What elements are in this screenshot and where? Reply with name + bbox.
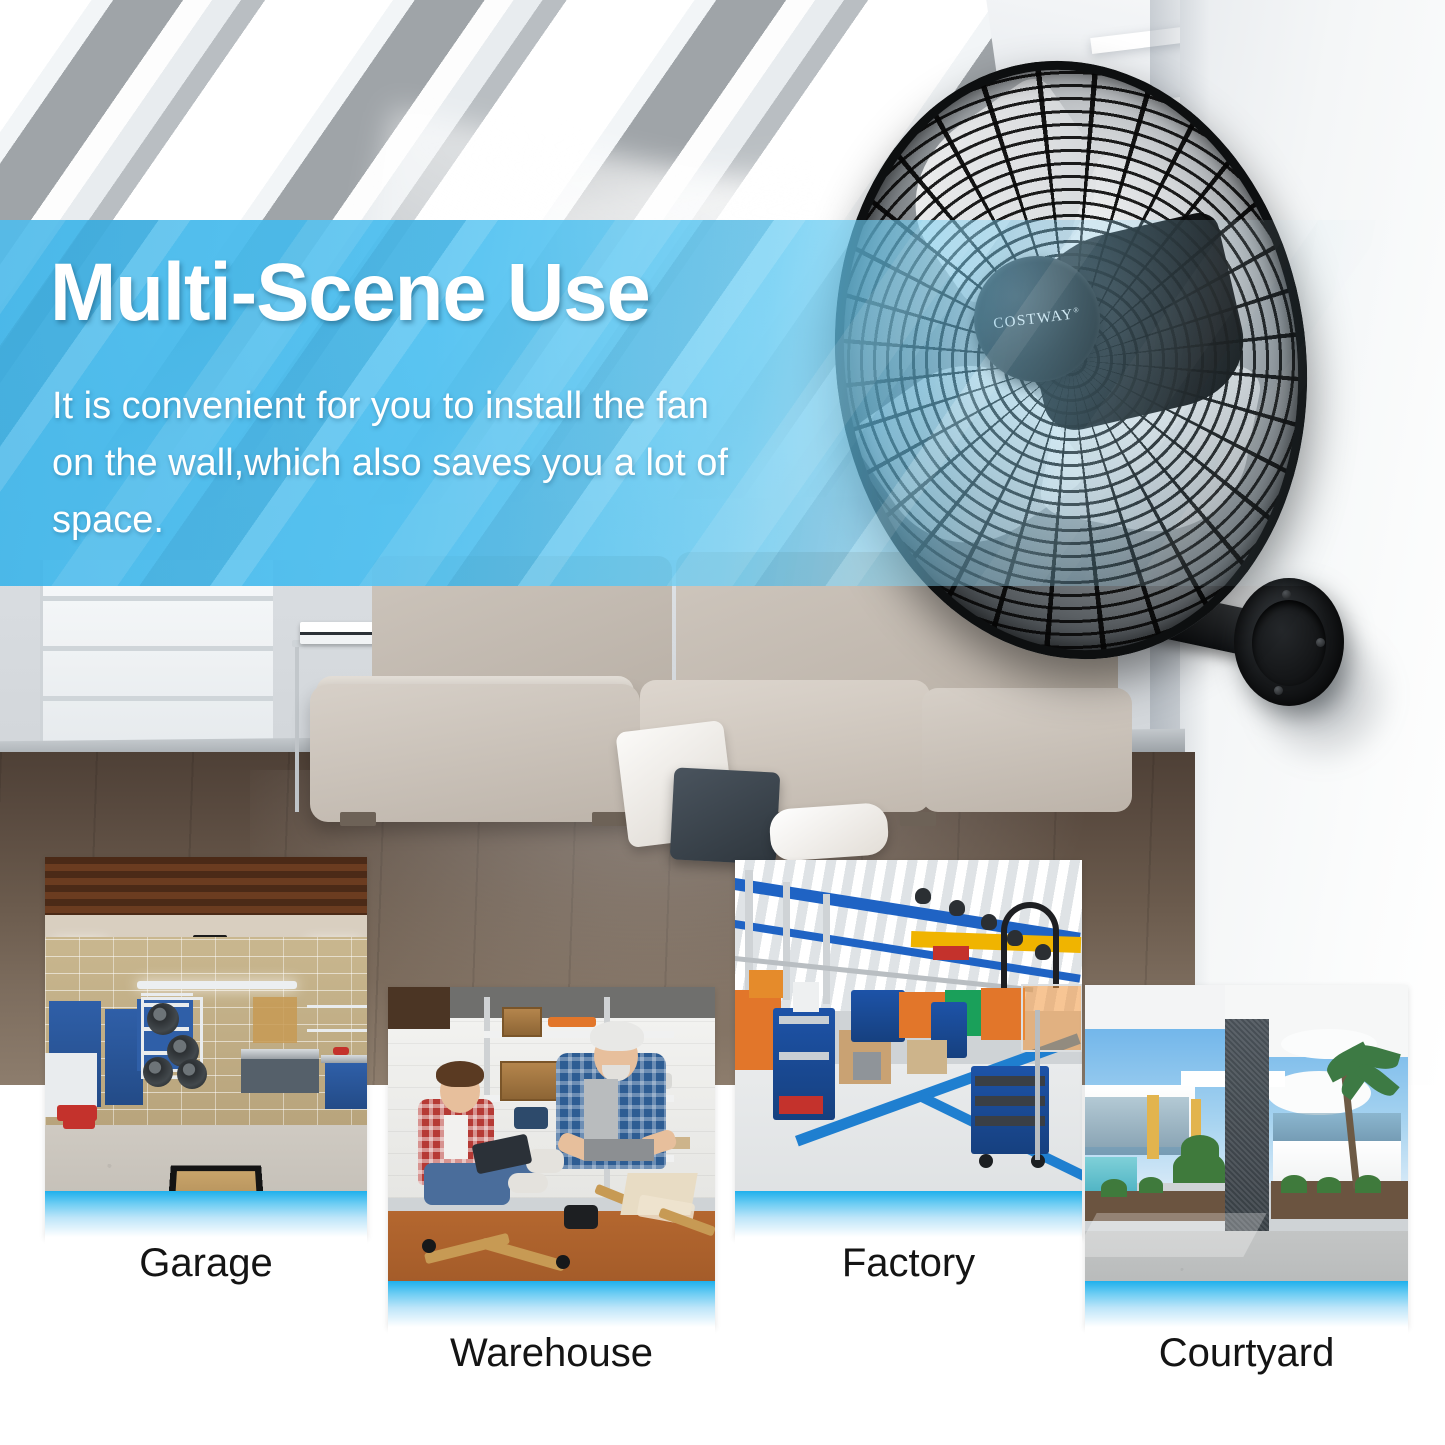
sofa-foot — [340, 812, 376, 826]
sofa-foot — [592, 812, 628, 826]
caption-gradient-strip — [735, 1191, 1082, 1237]
cushion-white — [768, 802, 889, 862]
chaise-lounge — [310, 684, 640, 822]
sofa-foot — [900, 812, 936, 826]
warehouse-photo — [388, 987, 715, 1327]
page-title: Multi-Scene Use — [50, 252, 650, 334]
scene-thumbnail-courtyard — [1085, 985, 1408, 1327]
scene-caption-warehouse: Warehouse — [388, 1327, 715, 1379]
cushion-dark — [670, 767, 781, 864]
caption-gradient-strip — [1085, 1281, 1408, 1327]
page-subtitle: It is convenient for you to install the … — [52, 378, 752, 549]
scene-thumbnail-warehouse — [388, 987, 715, 1327]
books — [300, 622, 378, 644]
window — [40, 560, 273, 750]
scene-caption-courtyard: Courtyard — [1085, 1327, 1408, 1379]
garage-photo — [45, 857, 367, 1237]
scene-caption-factory: Factory — [735, 1237, 1082, 1289]
product-feature-image: COSTWAY® Multi-Scene Use It is convenien… — [0, 0, 1445, 1445]
caption-gradient-strip — [45, 1191, 367, 1237]
scene-caption-garage: Garage — [45, 1237, 367, 1289]
factory-photo — [735, 860, 1082, 1237]
scene-thumbnail-garage — [45, 857, 367, 1237]
courtyard-photo — [1085, 985, 1408, 1327]
wall-mount-plate — [1234, 578, 1344, 706]
scene-thumbnail-factory — [735, 860, 1082, 1237]
caption-gradient-strip — [388, 1281, 715, 1327]
